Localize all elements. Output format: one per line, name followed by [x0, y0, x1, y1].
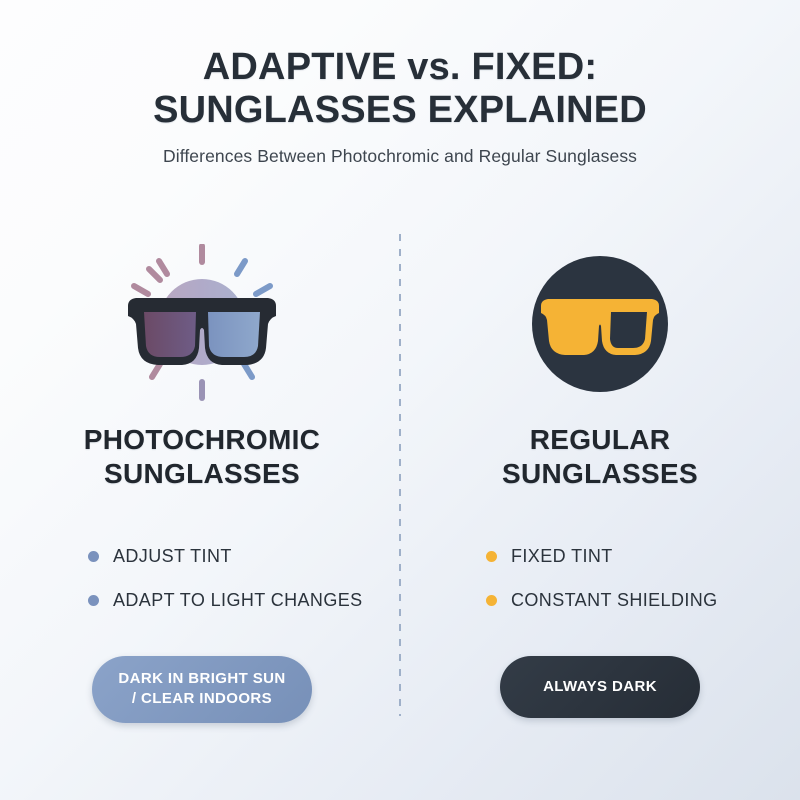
bullet-dot-icon [88, 551, 99, 562]
list-item: ADJUST TINT [88, 534, 372, 578]
heading-line-1: REGULAR [430, 423, 770, 457]
photochromic-sunglasses-icon [112, 244, 292, 404]
list-item-label: ADAPT TO LIGHT CHANGES [113, 590, 363, 611]
badge-line-1: DARK IN BRIGHT SUN [118, 669, 285, 689]
status-badge-regular: ALWAYS DARK [500, 656, 700, 718]
list-item-label: CONSTANT SHIELDING [511, 590, 718, 611]
feature-list-regular: FIXED TINT CONSTANT SHIELDING [430, 534, 770, 622]
regular-icon-wrap [430, 236, 770, 411]
regular-sunglasses-icon [525, 249, 675, 399]
bullet-dot-icon [88, 595, 99, 606]
column-heading-photochromic: PHOTOCHROMIC SUNGLASSES [32, 423, 372, 490]
badge-line-1: ALWAYS DARK [526, 677, 674, 697]
heading-line-2: SUNGLASSES [430, 457, 770, 491]
page-title-line-2: SUNGLASSES EXPLAINED [0, 89, 800, 132]
list-item-label: ADJUST TINT [113, 546, 232, 567]
title-part-fixed: FIXED: [461, 46, 598, 88]
heading-line-1: PHOTOCHROMIC [32, 423, 372, 457]
column-regular: REGULAR SUNGLASSES FIXED TINT CONSTANT S… [430, 236, 770, 718]
page-title-line-1: ADAPTIVE vs. FIXED: [0, 46, 800, 89]
title-part-vs: vs. [407, 46, 460, 88]
photochromic-icon-wrap [32, 236, 372, 411]
pill-wrap-photochromic: DARK IN BRIGHT SUN / CLEAR INDOORS [32, 656, 372, 723]
page-subtitle: Differences Between Photochromic and Reg… [0, 146, 800, 167]
list-item: FIXED TINT [486, 534, 770, 578]
list-item-label: FIXED TINT [511, 546, 613, 567]
vertical-dashed-divider [399, 234, 401, 716]
list-item: CONSTANT SHIELDING [486, 578, 770, 622]
column-heading-regular: REGULAR SUNGLASSES [430, 423, 770, 490]
bullet-dot-icon [486, 595, 497, 606]
column-photochromic: PHOTOCHROMIC SUNGLASSES ADJUST TINT ADAP… [32, 236, 372, 723]
feature-list-photochromic: ADJUST TINT ADAPT TO LIGHT CHANGES [32, 534, 372, 622]
infographic-canvas: ADAPTIVE vs. FIXED: SUNGLASSES EXPLAINED… [0, 0, 800, 800]
heading-line-2: SUNGLASSES [32, 457, 372, 491]
bullet-dot-icon [486, 551, 497, 562]
badge-line-2: / CLEAR INDOORS [118, 689, 285, 709]
status-badge-photochromic: DARK IN BRIGHT SUN / CLEAR INDOORS [92, 656, 311, 723]
list-item: ADAPT TO LIGHT CHANGES [88, 578, 372, 622]
title-part-adaptive: ADAPTIVE [203, 46, 408, 88]
pill-wrap-regular: ALWAYS DARK [430, 656, 770, 718]
header: ADAPTIVE vs. FIXED: SUNGLASSES EXPLAINED… [0, 46, 800, 167]
